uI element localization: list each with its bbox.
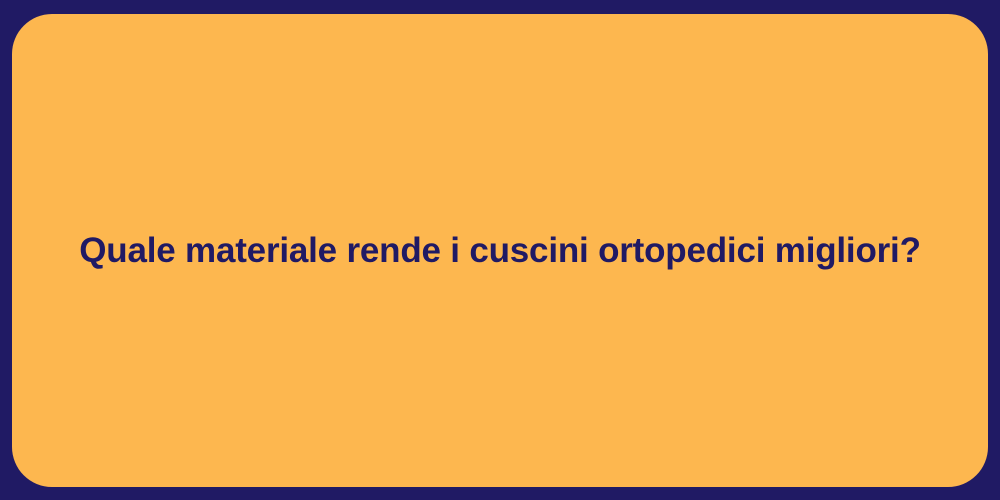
page-frame: Quale materiale rende i cuscini ortopedi… [0,0,1000,500]
content-card: Quale materiale rende i cuscini ortopedi… [12,14,988,487]
page-title: Quale materiale rende i cuscini ortopedi… [39,229,961,273]
